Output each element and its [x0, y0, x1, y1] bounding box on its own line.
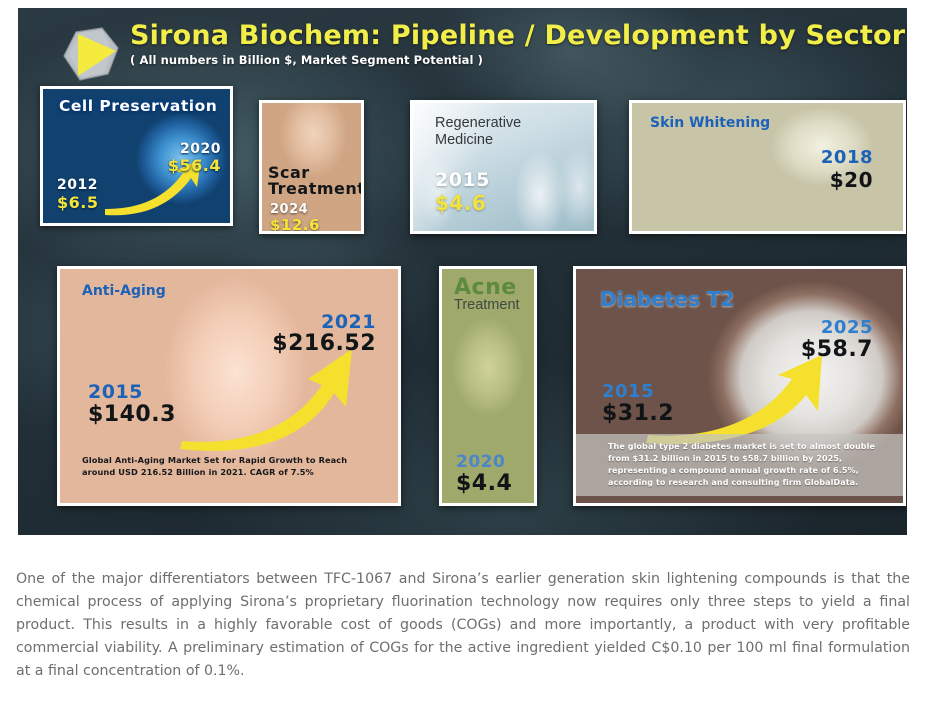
value-from: $31.2 [602, 401, 674, 426]
value-to: $58.7 [801, 337, 873, 362]
year-from: 2015 [602, 381, 654, 402]
card-scar-treatment[interactable]: Scar Treatment 2024 $12.6 [259, 100, 364, 234]
year-to: 2025 [821, 317, 873, 338]
page-title: Sirona Biochem: Pipeline / Development b… [130, 20, 905, 52]
value-to: $4.4 [456, 471, 512, 496]
card-caption: Global Anti-Aging Market Set for Rapid G… [82, 455, 382, 479]
card-title: Anti-Aging [82, 283, 166, 299]
year-to: 2018 [821, 147, 873, 168]
value-to: $216.52 [272, 331, 376, 356]
value-from: $6.5 [57, 193, 98, 212]
infographic-panel: Sirona Biochem: Pipeline / Development b… [18, 8, 907, 535]
card-title: Skin Whitening [650, 115, 770, 131]
card-anti-aging[interactable]: Anti-Aging 2021 $216.52 2015 $140.3 Glob… [57, 266, 401, 506]
hexagon-play-logo-icon [60, 24, 122, 86]
year-to: 2021 [321, 311, 376, 333]
card-title-secondary: Treatment [454, 297, 520, 313]
value-from: $140.3 [88, 402, 176, 427]
year-from: 2015 [435, 169, 490, 191]
year-to: 2024 [270, 202, 308, 217]
card-caption: The global type 2 diabetes market is set… [576, 434, 903, 496]
value-from: $4.6 [435, 191, 486, 215]
card-title: Diabetes T2 [600, 287, 734, 311]
panel-header: Sirona Biochem: Pipeline / Development b… [38, 22, 898, 84]
year-to: 2020 [180, 141, 221, 157]
card-regenerative-medicine[interactable]: Regenerative Medicine 2015 $4.6 [410, 100, 597, 234]
year-from: 2015 [88, 381, 143, 403]
card-acne-treatment[interactable]: Acne Treatment 2020 $4.4 [439, 266, 537, 506]
year-to: 2020 [456, 452, 505, 472]
card-title: Scar Treatment [268, 165, 364, 198]
value-to: $12.6 [270, 216, 320, 234]
card-title: Regenerative Medicine [435, 115, 521, 149]
page-subtitle: ( All numbers in Billion $, Market Segme… [130, 53, 905, 67]
year-from: 2012 [57, 177, 98, 193]
value-to: $56.4 [168, 156, 221, 175]
card-title: Cell Preservation [59, 97, 217, 115]
value-to: $20 [830, 168, 873, 192]
title-block: Sirona Biochem: Pipeline / Development b… [130, 20, 905, 67]
body-paragraph: One of the major differentiators between… [16, 568, 910, 683]
card-skin-whitening[interactable]: Skin Whitening 2018 $20 [629, 100, 906, 234]
card-diabetes-t2[interactable]: Diabetes T2 2025 $58.7 2015 $31.2 The gl… [573, 266, 906, 506]
card-cell-preservation[interactable]: Cell Preservation 2020 $56.4 2012 $6.5 [40, 86, 233, 226]
